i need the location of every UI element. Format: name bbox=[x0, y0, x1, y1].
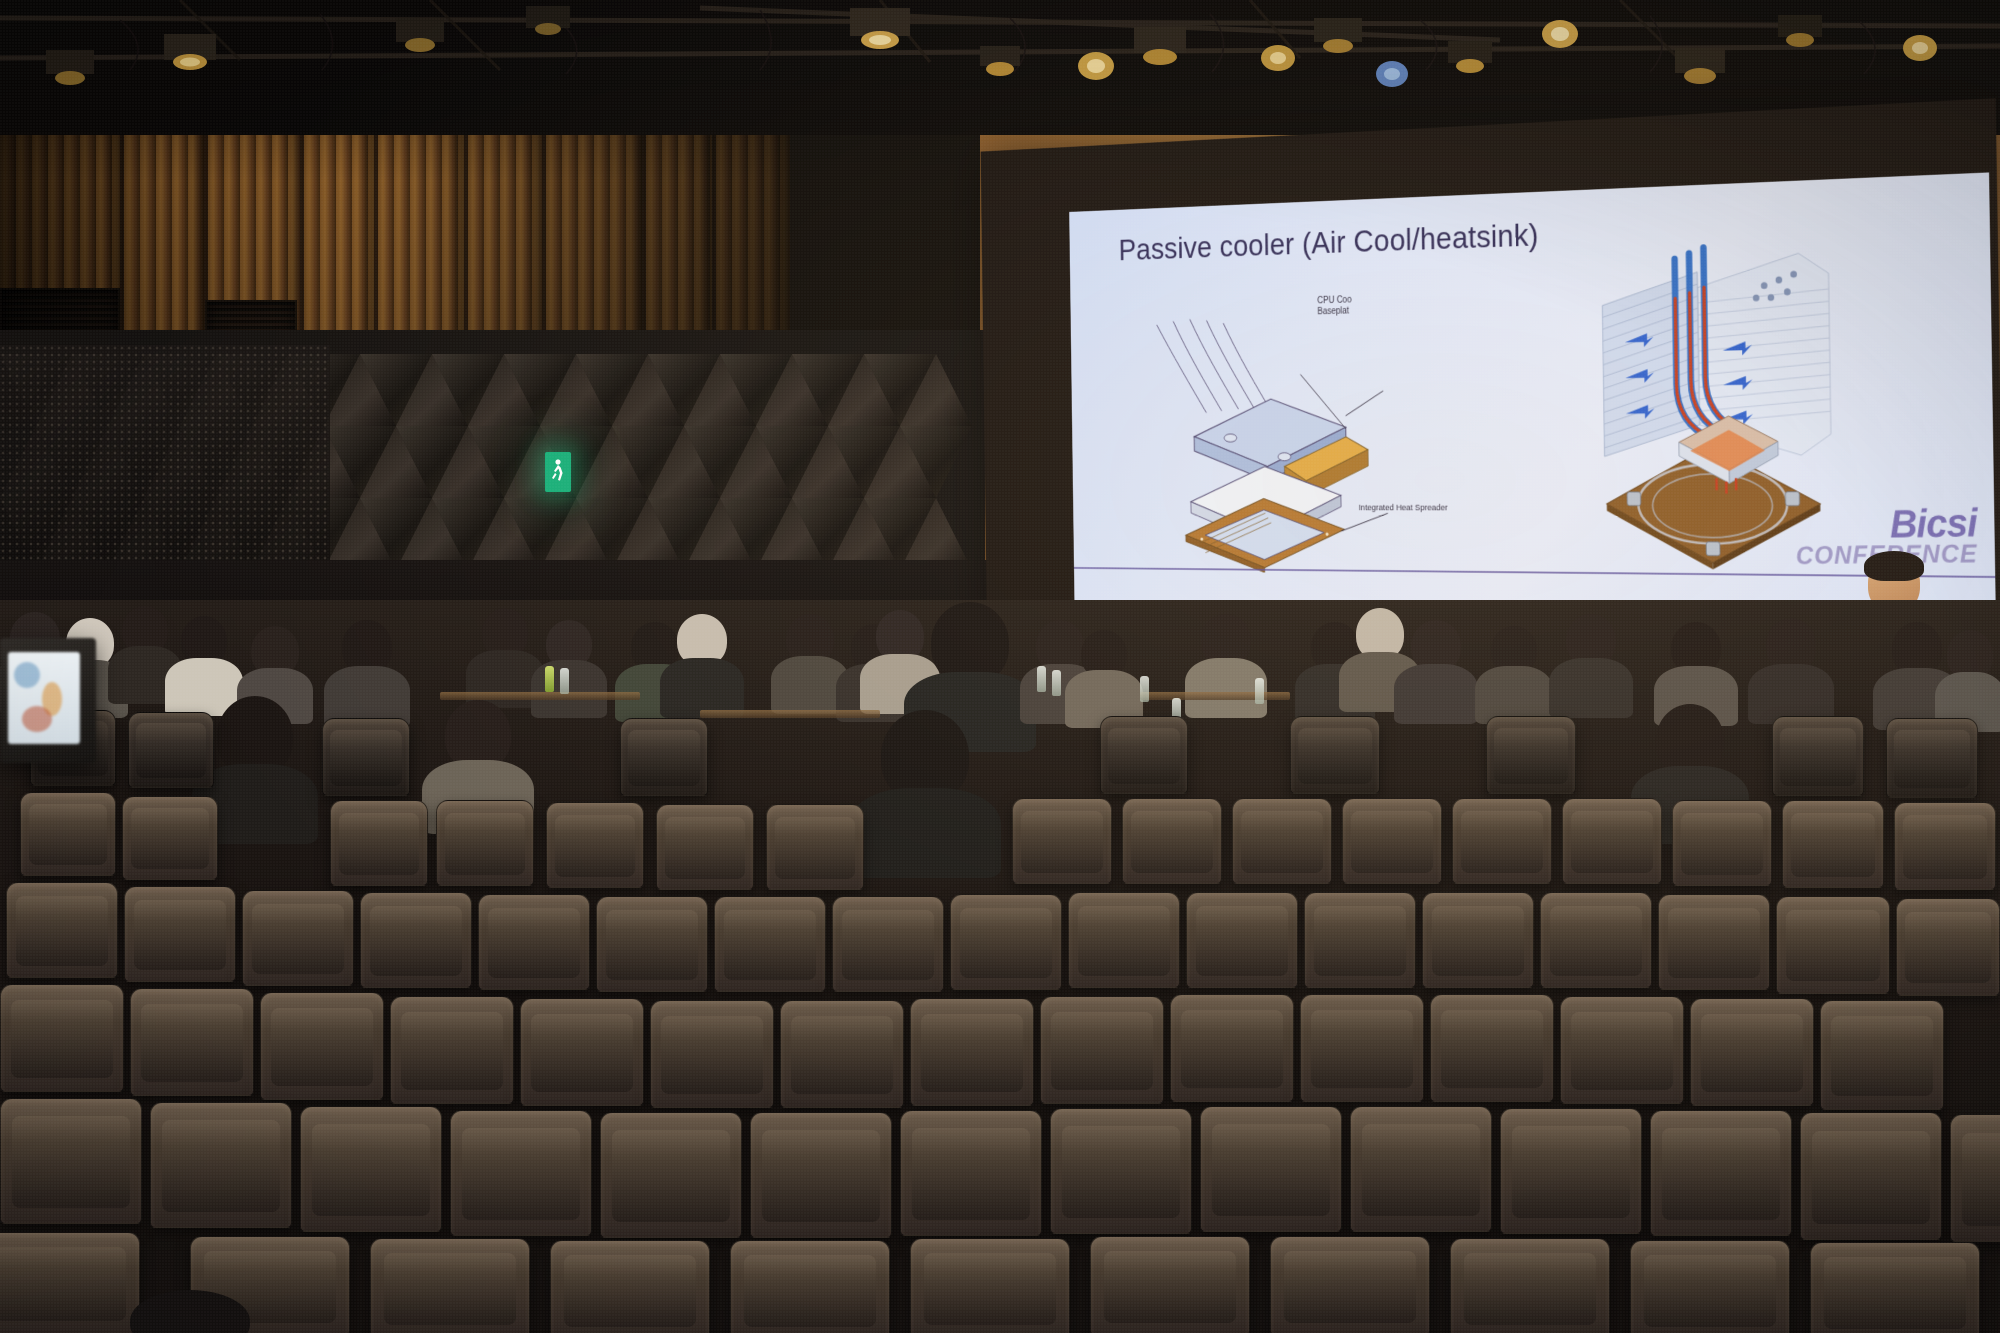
chair[interactable] bbox=[150, 1102, 292, 1228]
chair[interactable] bbox=[1050, 1108, 1192, 1234]
chair[interactable] bbox=[730, 1240, 890, 1333]
camera-monitor[interactable] bbox=[0, 638, 96, 763]
chair[interactable] bbox=[1672, 800, 1772, 886]
chair[interactable] bbox=[1950, 1114, 2000, 1242]
label-integrated-heat-spreader: Integrated Heat Spreader bbox=[1359, 503, 1448, 514]
chair[interactable] bbox=[0, 984, 124, 1092]
audience-member bbox=[775, 614, 845, 712]
camera-monitor-screen bbox=[8, 652, 80, 744]
chair[interactable] bbox=[1170, 994, 1294, 1102]
chair[interactable] bbox=[1430, 994, 1554, 1102]
chair[interactable] bbox=[1782, 800, 1884, 888]
chair[interactable] bbox=[780, 1000, 904, 1108]
chair[interactable] bbox=[122, 796, 218, 880]
chair[interactable] bbox=[766, 804, 864, 890]
chair[interactable] bbox=[330, 800, 428, 886]
audience-member bbox=[1940, 630, 2000, 730]
chair[interactable] bbox=[714, 896, 826, 992]
chair[interactable] bbox=[1820, 1000, 1944, 1110]
chair[interactable] bbox=[1800, 1112, 1942, 1240]
chair[interactable] bbox=[1422, 892, 1534, 988]
chair[interactable] bbox=[520, 998, 644, 1106]
audience-member bbox=[1400, 620, 1472, 720]
chair[interactable] bbox=[322, 718, 410, 796]
chair[interactable] bbox=[546, 802, 644, 888]
audience-member bbox=[470, 608, 540, 704]
chair[interactable] bbox=[750, 1112, 892, 1238]
chair[interactable] bbox=[1200, 1106, 1342, 1232]
audience-member bbox=[666, 614, 738, 714]
chair[interactable] bbox=[1122, 798, 1222, 884]
chair[interactable] bbox=[390, 996, 514, 1104]
chair[interactable] bbox=[1232, 798, 1332, 884]
chair[interactable] bbox=[0, 1098, 142, 1224]
presenter-hair bbox=[1864, 551, 1924, 581]
audience-member bbox=[1070, 630, 1138, 726]
chair[interactable] bbox=[1562, 798, 1662, 884]
chair[interactable] bbox=[832, 896, 944, 992]
audience-member bbox=[1555, 614, 1627, 714]
audience-member bbox=[100, 1290, 280, 1333]
chair[interactable] bbox=[1560, 996, 1684, 1104]
chair[interactable] bbox=[1540, 892, 1652, 988]
chair[interactable] bbox=[360, 892, 472, 988]
chair[interactable] bbox=[650, 1000, 774, 1108]
chair[interactable] bbox=[1186, 892, 1298, 988]
water-bottle bbox=[560, 668, 569, 694]
audience-member bbox=[860, 710, 990, 870]
chair[interactable] bbox=[300, 1106, 442, 1232]
chair[interactable] bbox=[436, 800, 534, 886]
chair[interactable] bbox=[1886, 718, 1978, 798]
chair[interactable] bbox=[1300, 994, 1424, 1102]
chair[interactable] bbox=[128, 712, 214, 788]
beverage-bottle bbox=[545, 666, 554, 692]
chair[interactable] bbox=[596, 896, 708, 992]
chair[interactable] bbox=[1452, 798, 1552, 884]
chair[interactable] bbox=[6, 882, 118, 978]
chair[interactable] bbox=[656, 804, 754, 890]
chair[interactable] bbox=[1658, 894, 1770, 990]
chair[interactable] bbox=[910, 1238, 1070, 1333]
chair[interactable] bbox=[550, 1240, 710, 1333]
chair[interactable] bbox=[600, 1112, 742, 1238]
row-table bbox=[700, 710, 880, 718]
chair[interactable] bbox=[260, 992, 384, 1100]
chair[interactable] bbox=[1450, 1238, 1610, 1333]
chair[interactable] bbox=[370, 1238, 530, 1333]
chair[interactable] bbox=[1486, 716, 1576, 794]
chair[interactable] bbox=[20, 792, 116, 876]
screen-preview-blob bbox=[14, 662, 40, 688]
exploded-cpu-cooler-diagram: CPU Coo Baseplat Integrated Heat Spreade… bbox=[1111, 310, 1459, 574]
chair[interactable] bbox=[1650, 1110, 1792, 1236]
chair[interactable] bbox=[124, 886, 236, 982]
chair[interactable] bbox=[1090, 1236, 1250, 1333]
chair[interactable] bbox=[620, 718, 708, 796]
auditorium-seating bbox=[0, 600, 2000, 1333]
chair[interactable] bbox=[1342, 798, 1442, 884]
chair[interactable] bbox=[450, 1110, 592, 1236]
chair[interactable] bbox=[242, 890, 354, 986]
chair[interactable] bbox=[910, 998, 1034, 1106]
chair[interactable] bbox=[478, 894, 590, 990]
chair[interactable] bbox=[1350, 1106, 1492, 1232]
audience-member bbox=[330, 620, 404, 724]
water-bottle bbox=[1037, 666, 1046, 692]
chair[interactable] bbox=[950, 894, 1062, 990]
chair[interactable] bbox=[1772, 716, 1864, 796]
chair[interactable] bbox=[1304, 892, 1416, 988]
chair[interactable] bbox=[1040, 996, 1164, 1104]
chair[interactable] bbox=[1630, 1240, 1790, 1333]
chair[interactable] bbox=[1810, 1242, 1980, 1333]
chair[interactable] bbox=[1290, 716, 1380, 794]
water-bottle bbox=[1140, 676, 1149, 702]
conference-photo-scene: Passive cooler (Air Cool/heatsink) bbox=[0, 0, 2000, 1333]
row-table bbox=[440, 692, 640, 700]
chair[interactable] bbox=[1100, 716, 1188, 794]
chair[interactable] bbox=[1896, 898, 2000, 996]
label-cpu-cooler: CPU Coo Baseplat bbox=[1317, 295, 1352, 319]
chair[interactable] bbox=[1690, 998, 1814, 1106]
water-bottle bbox=[1255, 678, 1264, 704]
chair[interactable] bbox=[1776, 896, 1890, 994]
chair[interactable] bbox=[130, 988, 254, 1096]
chair[interactable] bbox=[1894, 802, 1996, 890]
row-table bbox=[1140, 692, 1290, 700]
screen-preview-blob bbox=[22, 706, 52, 732]
chair[interactable] bbox=[1270, 1236, 1430, 1333]
chair[interactable] bbox=[1068, 892, 1180, 988]
chair[interactable] bbox=[900, 1110, 1042, 1236]
chair[interactable] bbox=[1500, 1108, 1642, 1234]
audience-member bbox=[1480, 626, 1548, 722]
exit-sign bbox=[545, 452, 571, 492]
water-bottle bbox=[1052, 670, 1061, 696]
chair[interactable] bbox=[1012, 798, 1112, 884]
audience-member bbox=[1755, 618, 1827, 720]
